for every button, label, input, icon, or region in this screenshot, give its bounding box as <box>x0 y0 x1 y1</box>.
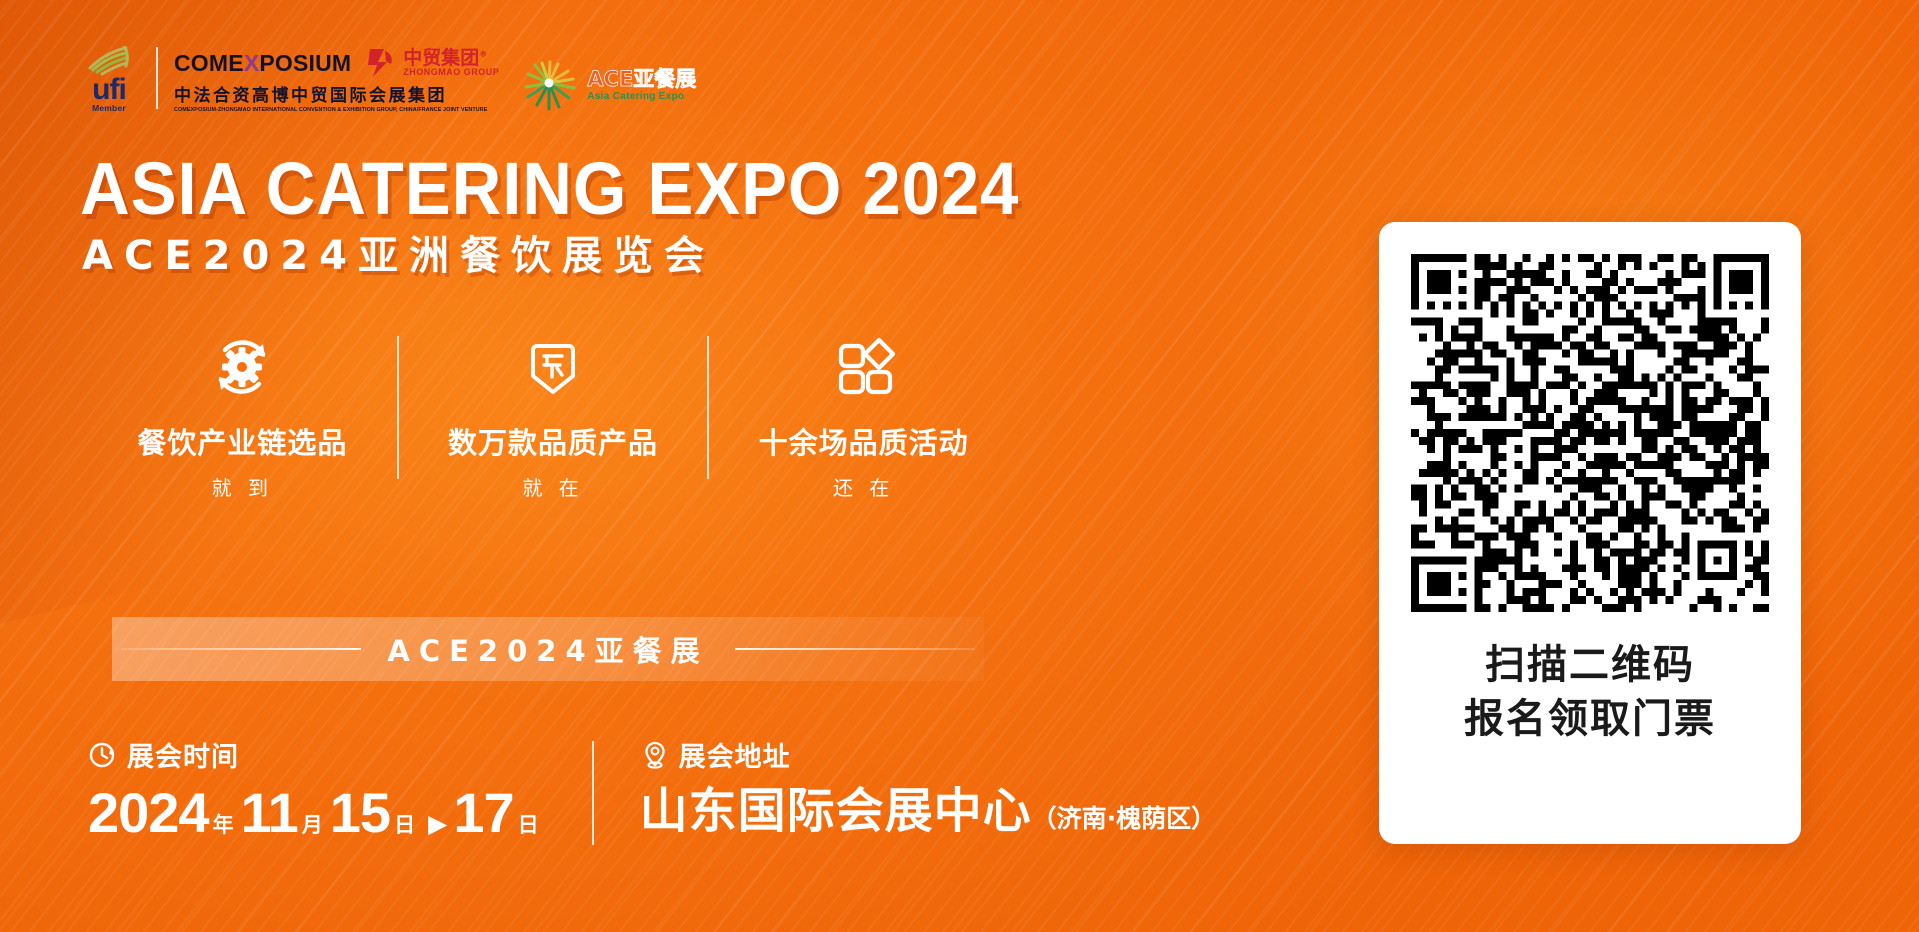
sponsor-logo-bar: ufi Member COME X POSIUM 中贸集团® ZHONGMAO … <box>78 46 696 113</box>
event-date-block: 展会时间 2024 年 11 月 15 日 ▶ 17 日 <box>88 735 546 841</box>
feature-item: 数万款品质产品 就 在 <box>399 330 708 501</box>
comexposium-english-subtitle: COMEXPOSIUM-ZHONGMAO INTERNATIONAL CONVE… <box>174 107 499 113</box>
feature-subtitle: 就 到 <box>212 472 273 501</box>
date-month-unit: 月 <box>302 809 323 839</box>
date-day-start-unit: 日 <box>394 809 415 839</box>
location-pin-icon <box>640 740 670 770</box>
ufi-member-logo: ufi Member <box>78 46 140 113</box>
ufi-member-label: Member <box>92 103 126 113</box>
comexposium-chinese-name: 中法合资高博中贸国际会展集团 <box>174 81 499 106</box>
feature-title: 数万款品质产品 <box>448 420 658 462</box>
zhongmao-chinese-name: 中贸集团® <box>403 49 499 68</box>
comexposium-wordmark: COME X POSIUM <box>174 50 351 77</box>
event-info: 展会时间 2024 年 11 月 15 日 ▶ 17 日 展会地址 山东国际会展… <box>88 735 1216 845</box>
date-day-start: 15 <box>330 785 390 841</box>
date-day-end: 17 <box>453 785 513 841</box>
comexposium-zhongmao-logo: COME X POSIUM 中贸集团® ZHONGMAO GROUP 中法合资高… <box>174 46 499 113</box>
comexposium-word-right: POSIUM <box>259 50 351 77</box>
event-address-block: 展会地址 山东国际会展中心 （济南·槐荫区） <box>640 735 1217 837</box>
strip-rule-left <box>121 648 361 650</box>
info-divider <box>592 741 594 845</box>
qr-registration-card[interactable]: 扫描二维码 报名领取门票 <box>1379 222 1801 844</box>
ufi-wing-icon <box>86 46 132 76</box>
feature-highlights: 餐饮产业链选品 就 到 数万款品质产品 就 在 <box>88 330 1018 501</box>
zhongmao-mark-icon <box>364 46 398 80</box>
qr-code-image[interactable] <box>1411 254 1769 612</box>
ace-pinwheel-icon <box>523 57 579 113</box>
event-address-value: 山东国际会展中心 （济南·槐荫区） <box>640 785 1217 837</box>
venue-district: （济南·槐荫区） <box>1032 799 1217 835</box>
feature-item: 十余场品质活动 还 在 <box>709 330 1018 501</box>
shapes-grid-icon <box>827 330 901 404</box>
date-month: 11 <box>241 785 298 841</box>
qr-caption-line-1: 扫描二维码 <box>1464 638 1716 692</box>
feature-title: 餐饮产业链选品 <box>137 420 347 462</box>
clock-icon <box>88 740 118 770</box>
address-heading: 展会地址 <box>679 735 791 774</box>
feature-subtitle: 还 在 <box>833 472 894 501</box>
date-range-arrow-icon: ▶ <box>428 809 447 838</box>
feature-subtitle: 就 在 <box>522 472 583 501</box>
highlight-strip: ACE2024亚餐展 <box>112 617 984 681</box>
zhongmao-logo: 中贸集团® ZHONGMAO GROUP <box>364 46 499 80</box>
qr-caption: 扫描二维码 报名领取门票 <box>1464 638 1716 746</box>
date-year: 2024 <box>88 785 209 841</box>
date-year-unit: 年 <box>213 809 234 839</box>
qr-caption-line-2: 报名领取门票 <box>1464 692 1716 746</box>
zhongmao-english-name: ZHONGMAO GROUP <box>403 68 499 77</box>
page-title-chinese: ACE2024亚洲餐饮展览会 <box>82 232 715 280</box>
venue-name: 山东国际会展中心 <box>640 785 1032 837</box>
ace-logo-english: Asia Catering Expo <box>587 92 696 102</box>
feature-title: 十余场品质活动 <box>759 420 969 462</box>
ace-expo-logo: ACE亚餐展 Asia Catering Expo <box>523 57 696 113</box>
ace-logo-chinese: ACE亚餐展 <box>587 69 696 90</box>
ufi-wordmark: ufi <box>92 77 126 103</box>
registered-mark: ® <box>479 50 487 59</box>
comexposium-word-x: X <box>244 50 260 77</box>
quality-shield-icon <box>516 330 590 404</box>
comexposium-word-left: COME <box>174 50 244 77</box>
event-date-value: 2024 年 11 月 15 日 ▶ 17 日 <box>88 785 546 841</box>
date-heading: 展会时间 <box>127 735 239 774</box>
strip-label: ACE2024亚餐展 <box>387 628 708 670</box>
date-day-end-unit: 日 <box>518 809 539 839</box>
feature-item: 餐饮产业链选品 就 到 <box>88 330 397 501</box>
logo-divider <box>156 47 158 109</box>
gear-recycle-icon <box>205 330 279 404</box>
page-title-english: ASIA CATERING EXPO 2024 <box>80 150 1019 228</box>
strip-rule-right <box>735 648 975 650</box>
